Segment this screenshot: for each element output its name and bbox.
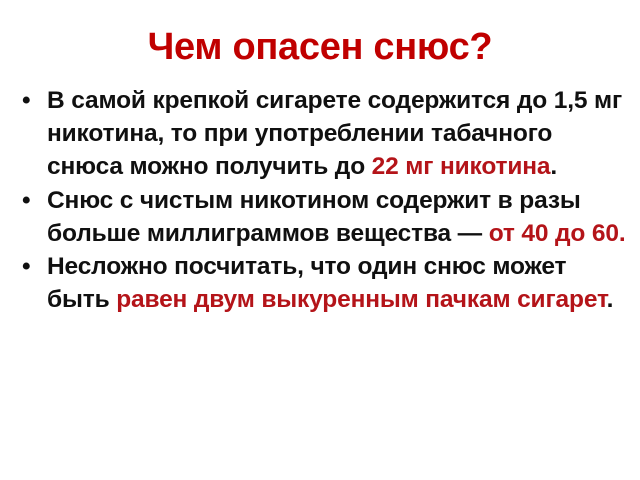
- list-item: •В самой крепкой сигарете содержится до …: [0, 84, 640, 184]
- page-title: Чем опасен снюс?: [0, 24, 640, 70]
- list-item: •Несложно посчитать, что один снюс может…: [0, 250, 640, 316]
- list-item: •Снюс с чистым никотином содержит в разы…: [0, 184, 640, 250]
- bullet-text-accent: равен двум выкуренным пачкам сигарет: [116, 286, 606, 313]
- bullet-dot-icon: •: [22, 250, 36, 283]
- bullet-text-tail: .: [550, 153, 557, 180]
- bullet-dot-icon: •: [22, 84, 36, 117]
- bullet-list: •В самой крепкой сигарете содержится до …: [0, 84, 640, 316]
- slide-canvas: Чем опасен снюс? •В самой крепкой сигаре…: [0, 0, 640, 480]
- bullet-text-accent: от 40 до 60.: [489, 220, 626, 247]
- bullet-text-tail: .: [607, 286, 614, 313]
- bullet-text-accent: 22 мг никотина: [372, 153, 551, 180]
- bullet-dot-icon: •: [22, 184, 36, 217]
